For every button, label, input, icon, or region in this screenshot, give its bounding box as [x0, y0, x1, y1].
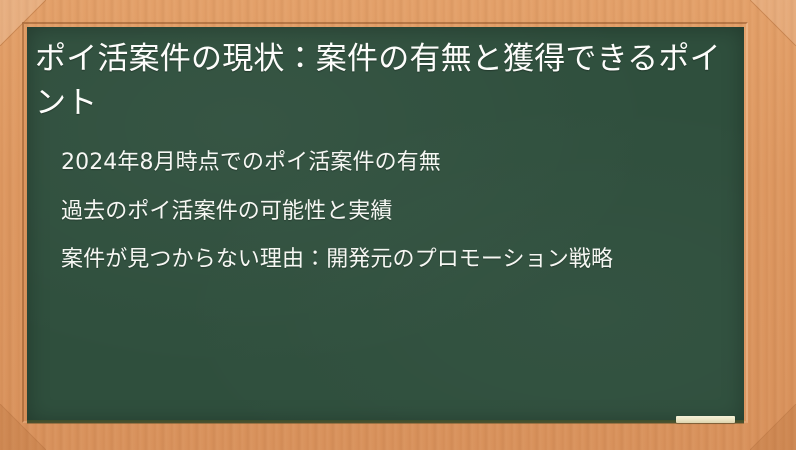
chalk-ledge [27, 420, 744, 424]
slide-screenshot: ポイ活案件の現状：案件の有無と獲得できるポイント 2024年8月時点でのポイ活案… [0, 0, 800, 450]
list-item-label: 過去のポイ活案件の可能性と実績 [61, 199, 393, 224]
board-content: ポイ活案件の現状：案件の有無と獲得できるポイント 2024年8月時点でのポイ活案… [27, 27, 744, 293]
page-title: ポイ活案件の現状：案件の有無と獲得できるポイント [35, 37, 730, 125]
list-item-label: 2024年8月時点でのポイ活案件の有無 [61, 150, 441, 175]
frame-miter-top-right-icon [750, 0, 796, 46]
list-item-label: 案件が見つからない理由：開発元のプロモーション戦略 [61, 247, 613, 272]
topic-list: 2024年8月時点でのポイ活案件の有無 過去のポイ活案件の可能性と実績 案件が見… [35, 147, 730, 276]
list-item: 案件が見つからない理由：開発元のプロモーション戦略 [35, 244, 730, 276]
page-right-margin [796, 0, 800, 450]
list-item: 2024年8月時点でのポイ活案件の有無 [35, 147, 730, 179]
chalkboard-surface: ポイ活案件の現状：案件の有無と獲得できるポイント 2024年8月時点でのポイ活案… [27, 27, 744, 423]
chalk-stick-icon [676, 416, 735, 423]
frame-miter-bottom-right-icon [750, 404, 796, 450]
list-item: 過去のポイ活案件の可能性と実績 [35, 196, 730, 228]
